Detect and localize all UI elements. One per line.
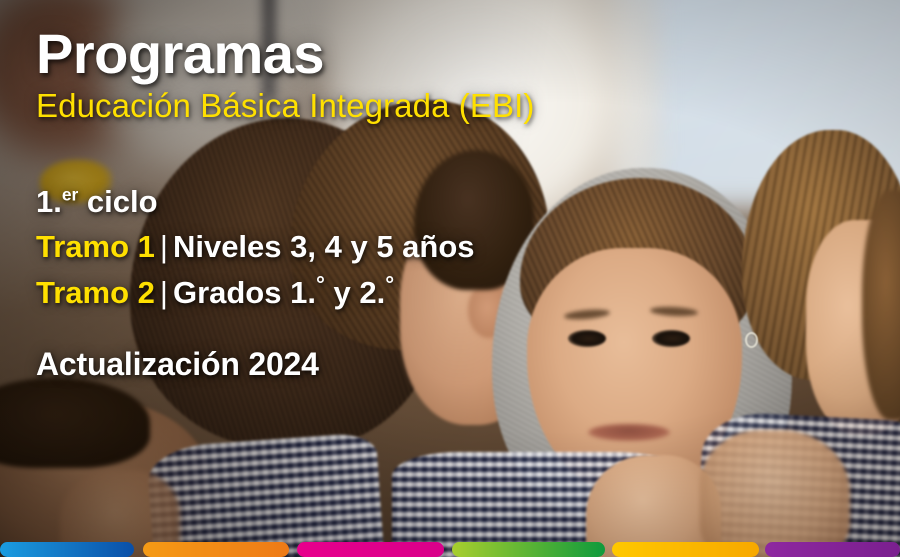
cycle-ordinal-suffix: er — [62, 185, 78, 205]
tramo-2-degree-2: ° — [385, 271, 394, 296]
tramo-2-separator: | — [155, 275, 173, 310]
tramo-2-description-mid: y 2. — [325, 275, 385, 310]
color-bar-segment-blue — [0, 542, 134, 557]
cycle-number: 1. — [36, 184, 62, 219]
color-bar-segment-green — [452, 542, 605, 557]
color-bar-segment-yellow — [612, 542, 759, 557]
color-bar-segment-purple — [765, 542, 900, 557]
tramo-2-label: Tramo 2 — [36, 275, 155, 310]
cover-page: Programas Educación Básica Integrada (EB… — [0, 0, 900, 557]
tramo-2-line: Tramo 2|Grados 1.° y 2.° — [36, 276, 900, 311]
tramo-1-separator: | — [155, 229, 173, 264]
page-subtitle: Educación Básica Integrada (EBI) — [36, 88, 900, 125]
cycle-word: ciclo — [87, 184, 158, 219]
tramo-1-label: Tramo 1 — [36, 229, 155, 264]
tramo-1-line: Tramo 1|Niveles 3, 4 y 5 años — [36, 230, 900, 265]
color-bar-segment-magenta — [297, 542, 444, 557]
tramo-1-description: Niveles 3, 4 y 5 años — [173, 229, 475, 264]
tramo-2-degree-1: ° — [316, 271, 325, 296]
cover-content: Programas Educación Básica Integrada (EB… — [0, 0, 900, 557]
cycle-heading: 1.er ciclo — [36, 185, 900, 219]
brand-color-bar — [0, 537, 900, 557]
page-title: Programas — [36, 26, 900, 82]
update-label: Actualización 2024 — [36, 346, 900, 383]
cycle-block: 1.er ciclo Tramo 1|Niveles 3, 4 y 5 años… — [36, 185, 900, 311]
color-bar-segment-orange — [143, 542, 289, 557]
tramo-2-description-prefix: Grados 1. — [173, 275, 316, 310]
